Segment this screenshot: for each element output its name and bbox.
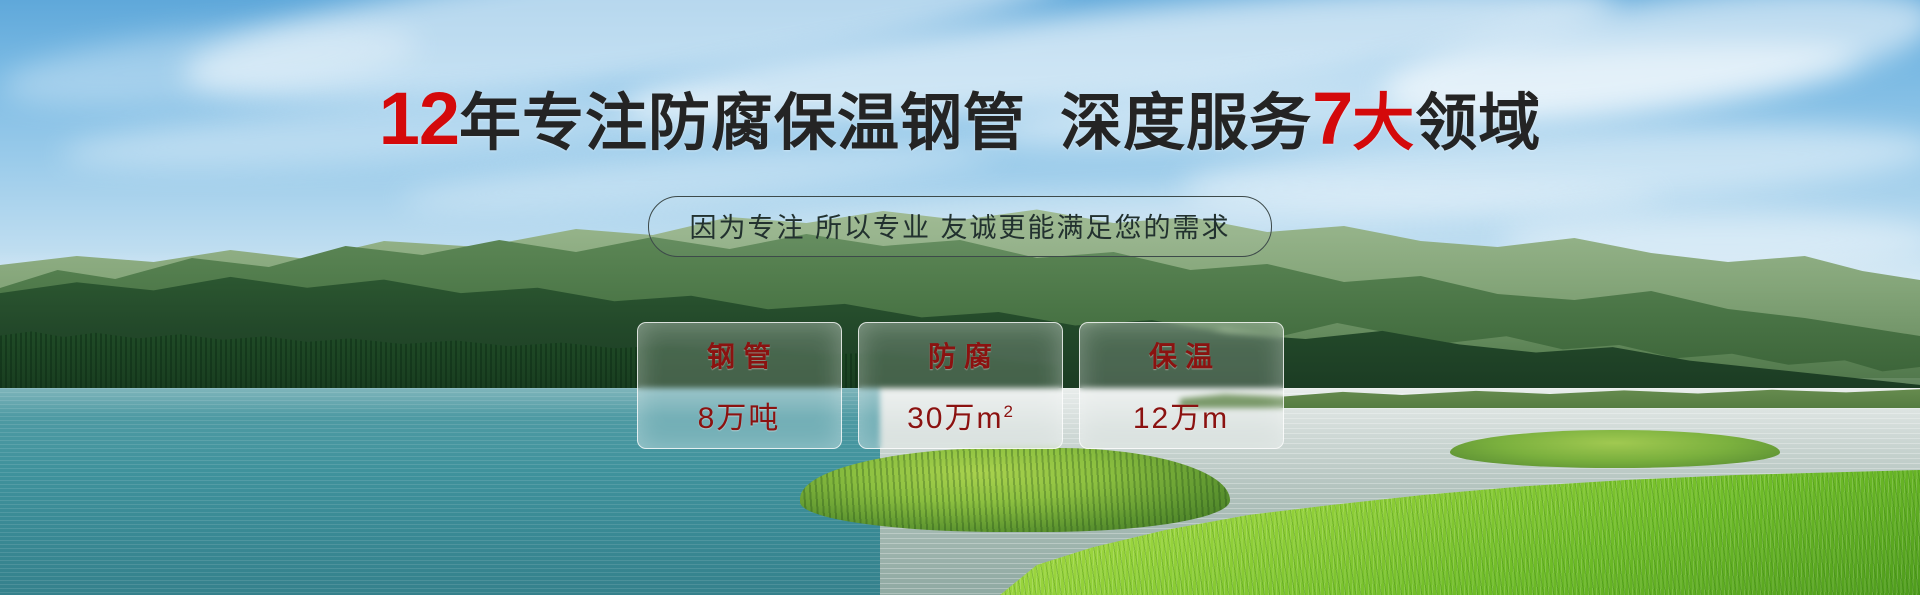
stat-card-value-text: 12万m: [1133, 402, 1229, 435]
banner-headline: 12年专注防腐保温钢管深度服务7大领域: [0, 82, 1920, 156]
stat-card-value-sup: 2: [1003, 402, 1012, 421]
headline-years-number: 12: [379, 77, 459, 160]
stat-card-value: 30万m2: [907, 393, 1013, 437]
headline-fields-number: 7: [1312, 77, 1352, 160]
stat-card-value-text: 8万吨: [698, 402, 781, 435]
stat-card-value: 8万吨: [698, 393, 781, 437]
headline-text-tail: 领域: [1415, 89, 1541, 158]
stat-card-title: 防腐: [920, 335, 1000, 375]
stat-card-title: 保温: [1141, 335, 1221, 375]
stat-card-group: 钢管 8万吨 防腐 30万m2 保温 12万m: [0, 322, 1920, 449]
stat-card-insulation[interactable]: 保温 12万m: [1079, 322, 1284, 449]
stat-card-steel-pipe[interactable]: 钢管 8万吨: [637, 322, 842, 449]
stat-card-title: 钢管: [699, 335, 779, 375]
stat-card-anticorrosion[interactable]: 防腐 30万m2: [858, 322, 1063, 449]
hero-banner: 12年专注防腐保温钢管深度服务7大领域 因为专注 所以专业 友诚更能满足您的需求…: [0, 0, 1920, 595]
headline-fields-unit: 大: [1352, 89, 1415, 158]
headline-text-secondary: 深度服务: [1060, 89, 1312, 158]
banner-subtitle-wrapper: 因为专注 所以专业 友诚更能满足您的需求: [0, 196, 1920, 257]
stat-card-value-text: 30万m: [907, 402, 1003, 435]
banner-subtitle-pill: 因为专注 所以专业 友诚更能满足您的需求: [648, 196, 1271, 257]
headline-text-primary: 年专注防腐保温钢管: [459, 89, 1026, 158]
banner-content: 12年专注防腐保温钢管深度服务7大领域 因为专注 所以专业 友诚更能满足您的需求…: [0, 0, 1920, 595]
stat-card-value: 12万m: [1133, 393, 1229, 437]
